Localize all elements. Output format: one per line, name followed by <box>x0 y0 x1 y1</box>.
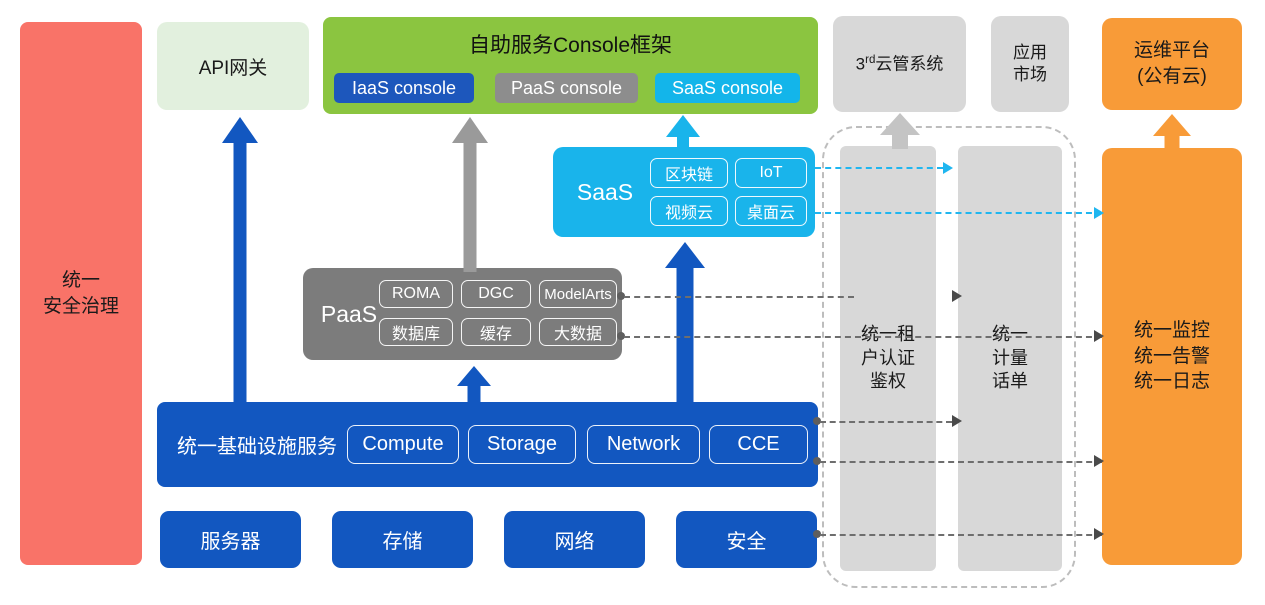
resource-chip-security[interactable]: 安全 <box>676 511 817 568</box>
saas-item-video-cloud[interactable]: 视频云 <box>650 196 728 226</box>
saas-item-desktop-cloud-label: 桌面云 <box>747 199 795 223</box>
console-frame-panel: 自助服务Console框架 IaaS console PaaS console … <box>323 17 818 114</box>
paas-console-label: PaaS console <box>511 78 622 99</box>
api-gateway-label: API网关 <box>199 53 268 80</box>
third-party-prefix: 3 <box>856 54 865 73</box>
third-party-sup: rd <box>865 54 875 66</box>
third-party-suffix: 云管系统 <box>875 54 943 73</box>
arrow-infra-to-saas <box>665 242 705 404</box>
paas-label: PaaS <box>311 268 387 360</box>
infra-item-storage-label: Storage <box>487 433 557 456</box>
third-party-cloud-mgmt-label: 3rd云管系统 <box>856 53 944 76</box>
paas-item-bigdata-label: 大数据 <box>554 320 602 344</box>
security-governance-label-1: 统一 <box>62 268 100 294</box>
saas-label: SaaS <box>563 147 647 237</box>
ops-platform-label-1: 运维平台 <box>1134 38 1210 64</box>
connector-paas-to-tenant-auth <box>624 296 854 298</box>
tenant-auth-column: 统一租 户认证 鉴权 <box>840 146 936 571</box>
app-market-panel[interactable]: 应用 市场 <box>991 16 1069 112</box>
saas-item-blockchain[interactable]: 区块链 <box>650 158 728 188</box>
console-frame-title: 自助服务Console框架 <box>323 29 818 59</box>
infra-item-storage[interactable]: Storage <box>468 425 576 464</box>
resource-chip-storage-label: 存储 <box>383 525 423 554</box>
paas-item-roma[interactable]: ROMA <box>379 280 453 308</box>
connector-paas-to-monitoring <box>624 336 1102 338</box>
security-governance-label-2: 安全治理 <box>43 294 119 320</box>
arrowhead-paas-to-monitoring <box>1094 330 1104 342</box>
paas-item-cache[interactable]: 缓存 <box>461 318 531 346</box>
resource-chip-server[interactable]: 服务器 <box>160 511 301 568</box>
resource-chip-security-label: 安全 <box>727 525 767 554</box>
connector-infra-to-tenant-auth <box>820 421 952 423</box>
infrastructure-label: 统一基础设施服务 <box>171 402 343 487</box>
connector-saas-to-monitoring <box>815 212 1102 214</box>
paas-item-dgc[interactable]: DGC <box>461 280 531 308</box>
arrowhead-infra-to-tenant-auth <box>952 415 962 427</box>
paas-item-roma-label: ROMA <box>392 285 440 303</box>
arrowhead-saas-to-monitoring <box>1094 207 1104 219</box>
paas-item-database-label: 数据库 <box>392 320 440 344</box>
ops-platform-panel[interactable]: 运维平台 (公有云) <box>1102 18 1242 110</box>
security-governance-column: 统一 安全治理 <box>20 22 142 565</box>
ops-platform-label-2: (公有云) <box>1137 64 1207 90</box>
connector-infra-to-monitoring <box>820 461 1102 463</box>
saas-block: SaaS 区块链 IoT 视频云 桌面云 <box>553 147 815 237</box>
saas-item-iot[interactable]: IoT <box>735 158 807 188</box>
connector-saas-to-tenant-auth <box>815 167 943 169</box>
monitoring-label-2: 统一告警 <box>1134 344 1210 370</box>
arrow-shared-to-third-party <box>880 113 920 149</box>
paas-item-dgc-label: DGC <box>478 285 514 303</box>
monitoring-label-3: 统一日志 <box>1134 369 1210 395</box>
saas-item-iot-label: IoT <box>759 164 782 182</box>
monitoring-column: 统一监控 统一告警 统一日志 <box>1102 148 1242 565</box>
api-gateway-panel[interactable]: API网关 <box>157 22 309 110</box>
paas-item-modelarts-label: ModelArts <box>544 286 612 303</box>
arrowhead-infra-to-monitoring <box>1094 455 1104 467</box>
resource-chip-network[interactable]: 网络 <box>504 511 645 568</box>
iaas-console-label: IaaS console <box>352 78 456 99</box>
resource-chip-network-label: 网络 <box>555 525 595 554</box>
arrow-paas-to-console <box>452 117 488 272</box>
arrow-saas-to-saas-console <box>665 115 701 151</box>
infra-item-compute-label: Compute <box>362 433 443 456</box>
saas-console-chip[interactable]: SaaS console <box>655 73 800 103</box>
app-market-label-2: 市场 <box>1013 64 1047 86</box>
infra-item-network[interactable]: Network <box>587 425 700 464</box>
infra-item-network-label: Network <box>607 433 680 456</box>
infra-item-cce[interactable]: CCE <box>709 425 808 464</box>
infra-item-cce-label: CCE <box>737 433 779 456</box>
architecture-diagram: 统一 安全治理 API网关 自助服务Console框架 IaaS console… <box>0 0 1265 605</box>
saas-item-desktop-cloud[interactable]: 桌面云 <box>735 196 807 226</box>
app-market-label-1: 应用 <box>1013 42 1047 64</box>
infrastructure-bar: 统一基础设施服务 Compute Storage Network CCE <box>157 402 818 487</box>
paas-console-chip[interactable]: PaaS console <box>495 73 638 103</box>
arrow-infra-to-api-gateway <box>222 117 258 405</box>
iaas-console-chip[interactable]: IaaS console <box>334 73 474 103</box>
arrowhead-saas-to-tenant-auth <box>943 162 953 174</box>
third-party-cloud-mgmt-panel[interactable]: 3rd云管系统 <box>833 16 966 112</box>
saas-item-blockchain-label: 区块链 <box>665 161 713 185</box>
paas-block: PaaS ROMA DGC ModelArts 数据库 缓存 大数据 <box>303 268 622 360</box>
resource-chip-storage[interactable]: 存储 <box>332 511 473 568</box>
resource-chip-server-label: 服务器 <box>201 525 261 554</box>
arrowhead-resources-to-monitoring <box>1094 528 1104 540</box>
infra-item-compute[interactable]: Compute <box>347 425 459 464</box>
connector-resources-to-monitoring <box>820 534 1102 536</box>
saas-item-video-cloud-label: 视频云 <box>665 199 713 223</box>
saas-console-label: SaaS console <box>672 78 783 99</box>
arrow-infra-to-paas <box>457 366 491 404</box>
paas-item-database[interactable]: 数据库 <box>379 318 453 346</box>
paas-item-cache-label: 缓存 <box>480 320 512 344</box>
arrow-monitoring-to-ops-platform <box>1152 114 1192 150</box>
paas-item-bigdata[interactable]: 大数据 <box>539 318 617 346</box>
metering-billing-column: 统一 计量 话单 <box>958 146 1062 571</box>
arrowhead-paas-to-tenant-auth <box>952 290 962 302</box>
monitoring-label-1: 统一监控 <box>1134 318 1210 344</box>
paas-item-modelarts[interactable]: ModelArts <box>539 280 617 308</box>
